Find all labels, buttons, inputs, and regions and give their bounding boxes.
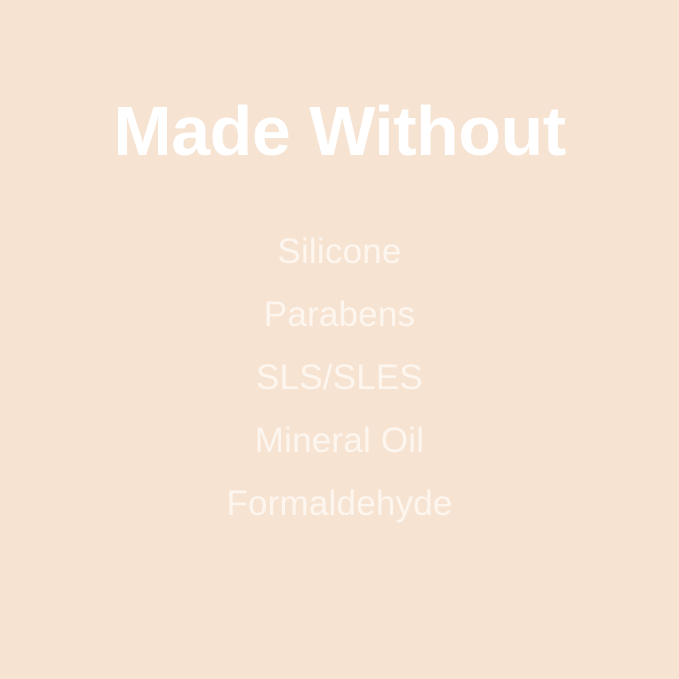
list-item: Mineral Oil	[0, 409, 679, 472]
list-item: Silicone	[0, 220, 679, 283]
list-item: SLS/SLES	[0, 346, 679, 409]
excluded-ingredients-list: Silicone Parabens SLS/SLES Mineral Oil F…	[0, 220, 679, 535]
page-title: Made Without	[0, 92, 679, 170]
list-item: Parabens	[0, 283, 679, 346]
made-without-card: Made Without Silicone Parabens SLS/SLES …	[0, 0, 679, 679]
list-item: Formaldehyde	[0, 472, 679, 535]
